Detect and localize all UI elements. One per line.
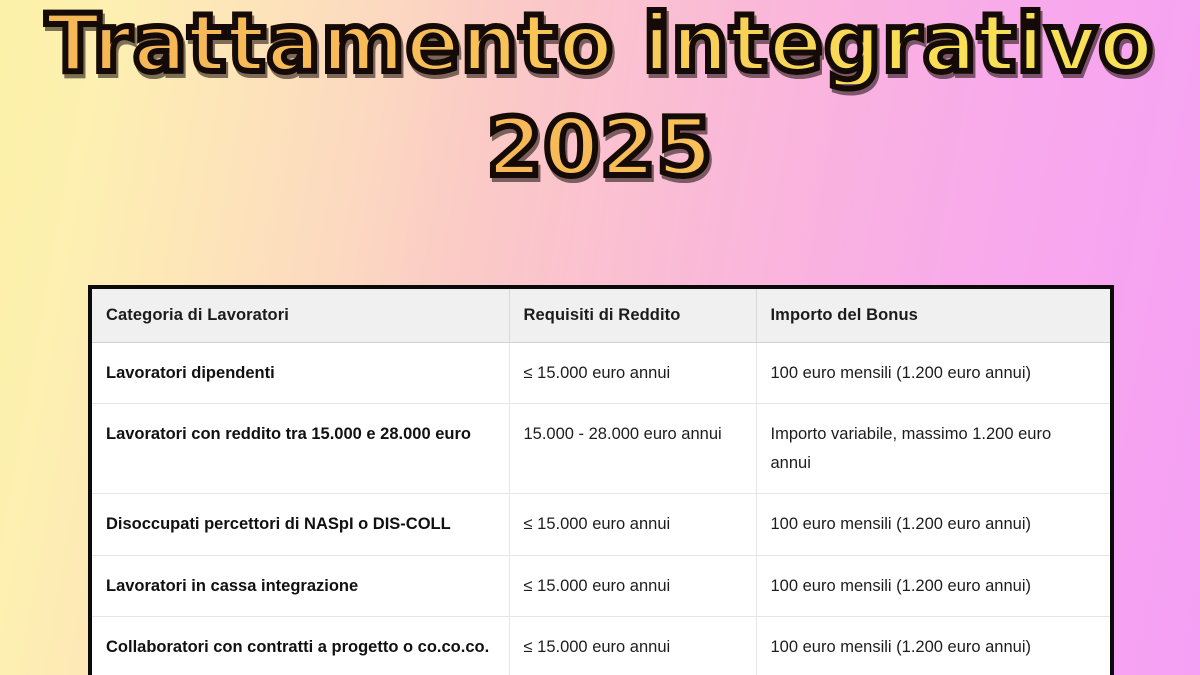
poster-title-line-2-text: 2025 [487,108,714,188]
cell-categoria: Lavoratori dipendenti [92,343,509,404]
table-row: Lavoratori con reddito tra 15.000 e 28.0… [92,404,1110,494]
table-body: Lavoratori dipendenti ≤ 15.000 euro annu… [92,343,1110,675]
bonus-table-frame: Categoria di Lavoratori Requisiti di Red… [88,285,1114,675]
table-row: Lavoratori dipendenti ≤ 15.000 euro annu… [92,343,1110,404]
table-row: Disoccupati percettori di NASpI o DIS-CO… [92,494,1110,555]
poster-title-line-1-text: Trattamento integrativo [46,4,1155,84]
table-header: Categoria di Lavoratori Requisiti di Red… [92,289,1110,343]
table-row: Lavoratori in cassa integrazione ≤ 15.00… [92,555,1110,616]
poster-title-line-1: Trattamento integrativo [46,4,1155,84]
poster-title-line-2: 2025 [487,108,714,188]
cell-categoria: Lavoratori in cassa integrazione [92,555,509,616]
column-header-categoria: Categoria di Lavoratori [92,289,509,343]
bonus-table: Categoria di Lavoratori Requisiti di Red… [92,289,1110,675]
table-row: Collaboratori con contratti a progetto o… [92,616,1110,675]
cell-importo: 100 euro mensili (1.200 euro annui) [756,555,1110,616]
cell-requisiti: 15.000 - 28.000 euro annui [509,404,756,494]
cell-categoria: Disoccupati percettori di NASpI o DIS-CO… [92,494,509,555]
poster-title-block: Trattamento integrativo 2025 [0,0,1200,255]
cell-importo: 100 euro mensili (1.200 euro annui) [756,494,1110,555]
cell-categoria: Lavoratori con reddito tra 15.000 e 28.0… [92,404,509,494]
table-header-row: Categoria di Lavoratori Requisiti di Red… [92,289,1110,343]
cell-requisiti: ≤ 15.000 euro annui [509,494,756,555]
cell-importo: 100 euro mensili (1.200 euro annui) [756,343,1110,404]
cell-importo: 100 euro mensili (1.200 euro annui) [756,616,1110,675]
cell-categoria: Collaboratori con contratti a progetto o… [92,616,509,675]
column-header-importo: Importo del Bonus [756,289,1110,343]
cell-requisiti: ≤ 15.000 euro annui [509,555,756,616]
column-header-requisiti: Requisiti di Reddito [509,289,756,343]
cell-requisiti: ≤ 15.000 euro annui [509,343,756,404]
cell-importo: Importo variabile, massimo 1.200 euro an… [756,404,1110,494]
cell-requisiti: ≤ 15.000 euro annui [509,616,756,675]
